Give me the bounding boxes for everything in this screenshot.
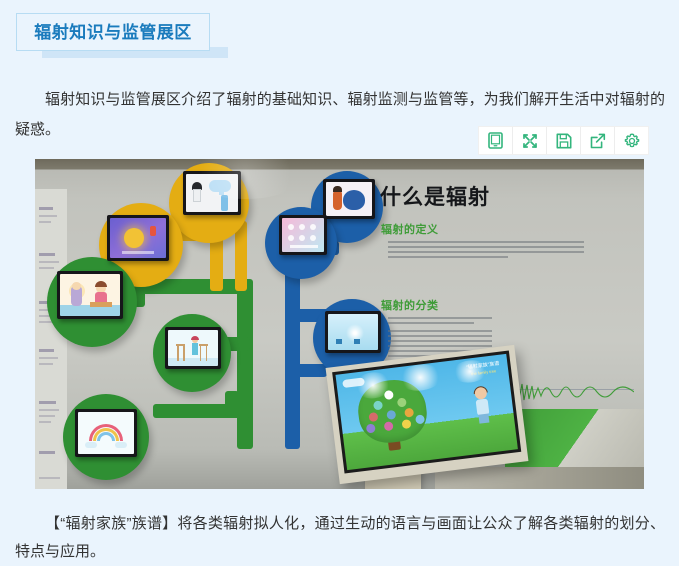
article-page: 辐射知识与监管展区 辐射知识与监管展区介绍了辐射的基础知识、辐射监测与监管等，为… (0, 0, 679, 552)
section-title-block: 辐射知识与监管展区 (16, 13, 234, 55)
page-title: 辐射知识与监管展区 (34, 24, 192, 41)
tablet-icon (488, 132, 503, 149)
image-toolbar[interactable] (478, 126, 649, 155)
mobile-preview-button[interactable] (479, 127, 513, 154)
share-icon (590, 133, 606, 149)
wall-panel-heading: 什么是辐射 (380, 181, 490, 211)
exhibit-screen-sun (107, 215, 169, 261)
save-button[interactable] (547, 127, 581, 154)
save-icon (556, 133, 572, 149)
expand-icon (522, 133, 538, 149)
branch-blue-lower (285, 364, 327, 377)
wall-panel-body-definition (388, 241, 588, 261)
tablet-character (472, 386, 493, 428)
exhibit-floor-strip (435, 467, 644, 489)
tablet-bezel: “辐射家族”族谱 the family tree (332, 351, 521, 474)
wall-panel-section-definition: 辐射的定义 (381, 221, 439, 237)
gear-icon (624, 133, 640, 149)
share-button[interactable] (581, 127, 615, 154)
exhibit-photo[interactable]: 什么是辐射 辐射的定义 辐射的分类 (35, 159, 644, 489)
tablet-screen-content: “辐射家族”族谱 the family tree (335, 354, 517, 470)
interactive-tablet[interactable]: “辐射家族”族谱 the family tree (326, 345, 529, 484)
section-title-box: 辐射知识与监管展区 (16, 13, 210, 51)
branch-green-trunk (237, 279, 253, 449)
photo-content: 什么是辐射 辐射的定义 辐射的分类 (35, 159, 644, 489)
branch-green-lower-riser (225, 391, 239, 417)
exhibit-screen-pink (279, 215, 327, 255)
exhibit-screen-kids (57, 271, 123, 319)
settings-button[interactable] (615, 127, 648, 154)
fullscreen-button[interactable] (513, 127, 547, 154)
exhibit-screen-rainbow (75, 409, 137, 457)
wall-panel-section-classification: 辐射的分类 (381, 297, 439, 313)
wall-text-panel-left (35, 189, 67, 489)
exhibit-screen-top (183, 171, 241, 215)
exhibit-screen-easel (165, 327, 221, 369)
image-caption: 【“辐射家族”族谱】将各类辐射拟人化，通过生动的语言与画面让公众了解各类辐射的划… (15, 510, 665, 566)
exhibit-screen-blueblob (323, 179, 375, 219)
